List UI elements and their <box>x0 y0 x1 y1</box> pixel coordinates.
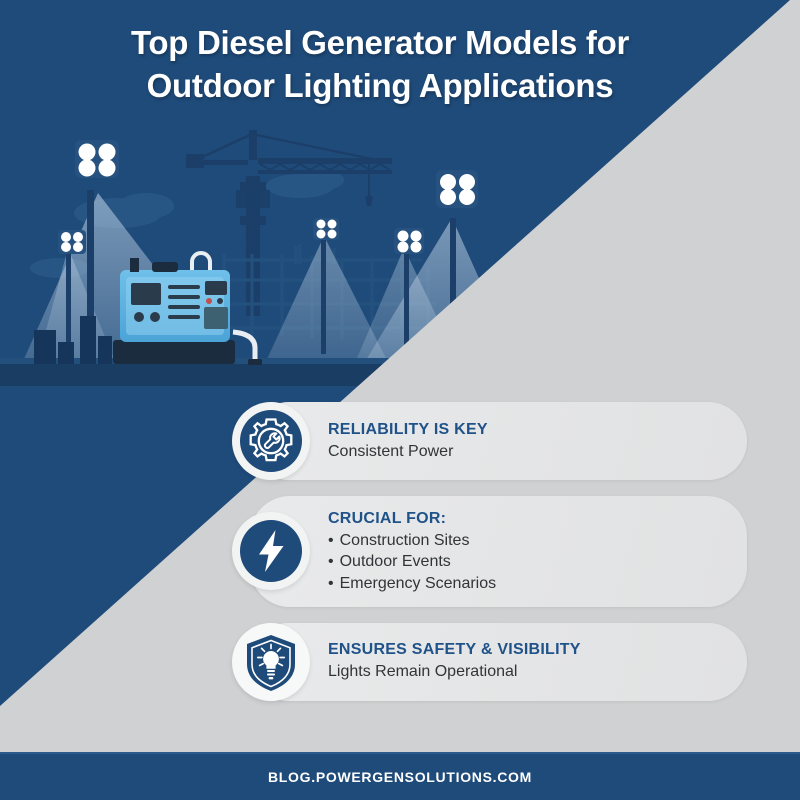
footer-url[interactable]: BLOG.POWERGENSOLUTIONS.COM <box>268 769 532 785</box>
feature-card-crucial-for[interactable]: CRUCIAL FOR: Construction Sites Outdoor … <box>232 496 752 607</box>
list-item: Outdoor Events <box>328 551 726 572</box>
card-heading: CRUCIAL FOR: <box>328 509 726 529</box>
card-heading: RELIABILITY IS KEY <box>328 420 726 440</box>
card-text-block: ENSURES SAFETY & VISIBILITY Lights Remai… <box>232 623 752 701</box>
list-item: Construction Sites <box>328 530 726 551</box>
title-line-2: Outdoor Lighting Applications <box>0 65 760 108</box>
card-bullet-list: Construction Sites Outdoor Events Emerge… <box>328 530 726 594</box>
construction-site-illustration <box>0 118 520 386</box>
card-subtitle: Consistent Power <box>328 442 726 463</box>
card-text-block: RELIABILITY IS KEY Consistent Power <box>232 402 752 480</box>
title-line-1: Top Diesel Generator Models for <box>0 22 760 65</box>
infographic-canvas: Top Diesel Generator Models for Outdoor … <box>0 0 800 800</box>
page-title: Top Diesel Generator Models for Outdoor … <box>0 22 760 108</box>
feature-card-safety-visibility[interactable]: ENSURES SAFETY & VISIBILITY Lights Remai… <box>232 623 752 701</box>
card-text-block: CRUCIAL FOR: Construction Sites Outdoor … <box>232 496 752 607</box>
feature-card-list: RELIABILITY IS KEY Consistent Power CRUC… <box>232 402 752 717</box>
footer-bar: BLOG.POWERGENSOLUTIONS.COM <box>0 752 800 800</box>
list-item: Emergency Scenarios <box>328 573 726 594</box>
feature-card-reliability[interactable]: RELIABILITY IS KEY Consistent Power <box>232 402 752 480</box>
card-heading: ENSURES SAFETY & VISIBILITY <box>328 640 726 660</box>
ground <box>0 362 520 386</box>
card-subtitle: Lights Remain Operational <box>328 662 726 683</box>
